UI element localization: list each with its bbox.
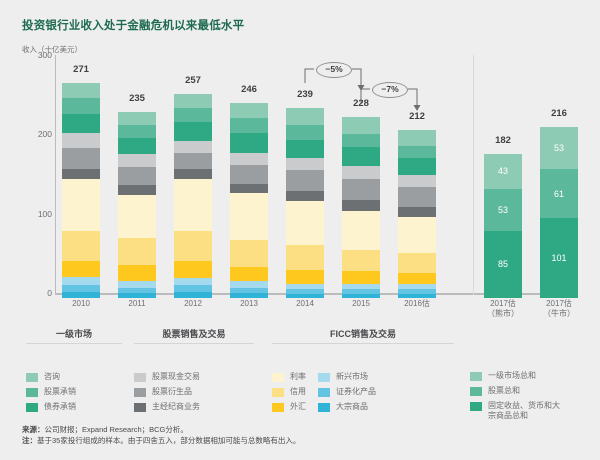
legend-group-header: FICC销售及交易 — [272, 327, 454, 344]
legend-swatch — [272, 388, 284, 397]
legend-label: 主经纪商业务 — [152, 402, 200, 412]
legend-item-一级市场总和[interactable]: 一级市场总和 — [470, 371, 566, 381]
legend-group-primary-market: 一级市场咨询股票承销债券承销 — [26, 327, 122, 395]
legend-item-利率[interactable]: 利率 — [272, 372, 306, 382]
source-text: 公司财报；Expand Research；BCG分析。 — [45, 425, 188, 434]
legend-label: 股票现金交易 — [152, 372, 200, 382]
legend-item-股票总和[interactable]: 股票总和 — [470, 386, 566, 396]
legend-label: 债券承销 — [44, 402, 76, 412]
legend-item-固定收益、货币和大宗商品总和[interactable]: 固定收益、货币和大宗商品总和 — [470, 401, 566, 421]
legend-item-证券化产品[interactable]: 证券化产品 — [318, 387, 376, 397]
legend-group-header: 股票销售及交易 — [134, 327, 254, 344]
bar-2013-x-label: 2013 — [217, 299, 281, 309]
legend-swatch — [26, 388, 38, 397]
legend-swatch — [470, 402, 482, 411]
legend-swatch — [134, 373, 146, 382]
bar-2014-x-label: 2014 — [273, 299, 337, 309]
legend-item-股票现金交易[interactable]: 股票现金交易 — [134, 372, 200, 382]
legend-group-header: 一级市场 — [26, 327, 122, 344]
legend-swatch — [318, 403, 330, 412]
legend-label: 新兴市场 — [336, 372, 368, 382]
legend-column: 一级市场总和股票总和固定收益、货币和大宗商品总和 — [470, 371, 566, 426]
legend-label: 股票总和 — [488, 386, 520, 396]
legend-item-大宗商品[interactable]: 大宗商品 — [318, 402, 376, 412]
legend-column: 股票现金交易股票衍生品主经纪商业务 — [134, 372, 200, 417]
source-line: 来源：公司财报；Expand Research；BCG分析。 — [22, 424, 582, 435]
legend-label: 信用 — [290, 387, 306, 397]
legend-label: 固定收益、货币和大宗商品总和 — [488, 401, 566, 421]
legend-group-ficc-sales-trading: FICC销售及交易利率信用外汇新兴市场证券化产品大宗商品 — [272, 327, 454, 395]
legend-swatch — [134, 388, 146, 397]
page-title: 投资银行业收入处于金融危机以来最低水平 — [22, 17, 244, 33]
anno-7-badge: −7% — [372, 82, 408, 98]
legend-swatch — [470, 387, 482, 396]
legend-item-外汇[interactable]: 外汇 — [272, 402, 306, 412]
legend-item-新兴市场[interactable]: 新兴市场 — [318, 372, 376, 382]
legend-group-equity-sales-trading: 股票销售及交易股票现金交易股票衍生品主经纪商业务 — [134, 327, 254, 395]
legend-label: 股票衍生品 — [152, 387, 192, 397]
bar-2012-x-label: 2012 — [161, 299, 225, 309]
legend-column: 利率信用外汇 — [272, 372, 306, 417]
chart-plot-area: 3002001000 27120102352011257201224620132… — [22, 55, 578, 300]
chart-footer: 来源：公司财报；Expand Research；BCG分析。 注：基于35家投行… — [22, 424, 582, 446]
legend-label: 股票承销 — [44, 387, 76, 397]
note-text: 基于35家投行组成的样本。由于四舍五入，部分数据相加可能与总数略有出入。 — [37, 436, 300, 445]
legend-swatch — [318, 388, 330, 397]
legend-swatch — [26, 403, 38, 412]
bar-2015-x-label: 2015 — [329, 299, 393, 309]
legend-item-股票承销[interactable]: 股票承销 — [26, 387, 76, 397]
legend-column: 新兴市场证券化产品大宗商品 — [318, 372, 376, 417]
source-label: 来源： — [22, 425, 45, 434]
legend-item-信用[interactable]: 信用 — [272, 387, 306, 397]
legend-swatch — [26, 373, 38, 382]
legend-item-债券承销[interactable]: 债券承销 — [26, 402, 76, 412]
bar-2011-x-label: 2011 — [105, 299, 169, 309]
note-line: 注：基于35家投行组成的样本。由于四舍五入，部分数据相加可能与总数略有出入。 — [22, 435, 582, 446]
chart-legend: 一级市场咨询股票承销债券承销股票销售及交易股票现金交易股票衍生品主经纪商业务FI… — [22, 327, 578, 415]
legend-swatch — [272, 373, 284, 382]
anno-7-connector — [22, 55, 578, 295]
note-label: 注： — [22, 436, 37, 445]
legend-label: 大宗商品 — [336, 402, 368, 412]
legend-label: 证券化产品 — [336, 387, 376, 397]
legend-label: 一级市场总和 — [488, 371, 536, 381]
bar-2017-bear-x-label: 2017估（熊市） — [471, 299, 535, 318]
legend-swatch — [272, 403, 284, 412]
legend-item-主经纪商业务[interactable]: 主经纪商业务 — [134, 402, 200, 412]
legend-swatch — [318, 373, 330, 382]
legend-label: 咨询 — [44, 372, 60, 382]
legend-group-totals: 一级市场总和股票总和固定收益、货币和大宗商品总和 — [470, 327, 578, 404]
bar-2016-x-label: 2016估 — [385, 299, 449, 309]
legend-swatch — [134, 403, 146, 412]
legend-column: 咨询股票承销债券承销 — [26, 372, 76, 417]
legend-item-股票衍生品[interactable]: 股票衍生品 — [134, 387, 200, 397]
legend-label: 外汇 — [290, 402, 306, 412]
bar-2017-bull-x-label: 2017估（牛市） — [527, 299, 591, 318]
bar-2010-x-label: 2010 — [49, 299, 113, 309]
legend-label: 利率 — [290, 372, 306, 382]
legend-swatch — [470, 372, 482, 381]
legend-item-咨询[interactable]: 咨询 — [26, 372, 76, 382]
